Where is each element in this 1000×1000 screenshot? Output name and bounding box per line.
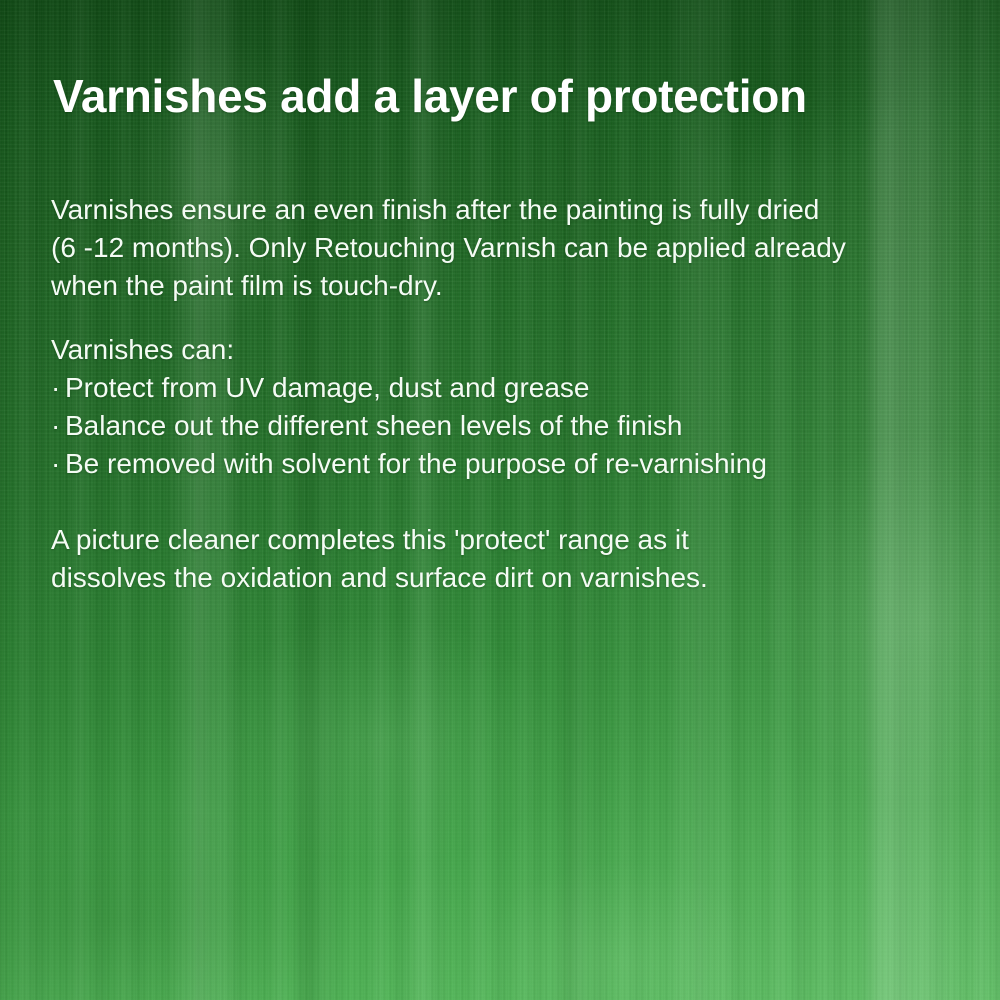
intro-paragraph-line: when the paint film is touch-dry. xyxy=(51,267,931,305)
list-item: ·Protect from UV damage, dust and grease xyxy=(51,369,931,407)
list-item-label: Balance out the different sheen levels o… xyxy=(65,410,682,441)
closing-paragraph: A picture cleaner completes this 'protec… xyxy=(51,521,931,597)
page-title: Varnishes add a layer of protection xyxy=(53,71,953,123)
list-item: ·Be removed with solvent for the purpose… xyxy=(51,445,931,483)
list-item-label: Protect from UV damage, dust and grease xyxy=(65,372,590,403)
list-heading-text: Varnishes can: xyxy=(51,331,931,369)
intro-paragraph-line: Varnishes ensure an even finish after th… xyxy=(51,191,931,229)
capabilities-list: ·Protect from UV damage, dust and grease… xyxy=(51,369,931,483)
bullet-dot-icon: · xyxy=(51,445,65,483)
bullet-dot-icon: · xyxy=(51,407,65,445)
intro-paragraph: Varnishes ensure an even finish after th… xyxy=(51,191,931,305)
list-item-label: Be removed with solvent for the purpose … xyxy=(65,448,767,479)
varnish-info-poster: Varnishes add a layer of protection Varn… xyxy=(0,0,1000,1000)
closing-paragraph-line: dissolves the oxidation and surface dirt… xyxy=(51,559,931,597)
list-heading: Varnishes can: xyxy=(51,331,931,369)
poster-content: Varnishes add a layer of protection Varn… xyxy=(0,0,1000,1000)
bullet-dot-icon: · xyxy=(51,369,65,407)
closing-paragraph-line: A picture cleaner completes this 'protec… xyxy=(51,521,931,559)
intro-paragraph-line: (6 -12 months). Only Retouching Varnish … xyxy=(51,229,931,267)
list-item: ·Balance out the different sheen levels … xyxy=(51,407,931,445)
